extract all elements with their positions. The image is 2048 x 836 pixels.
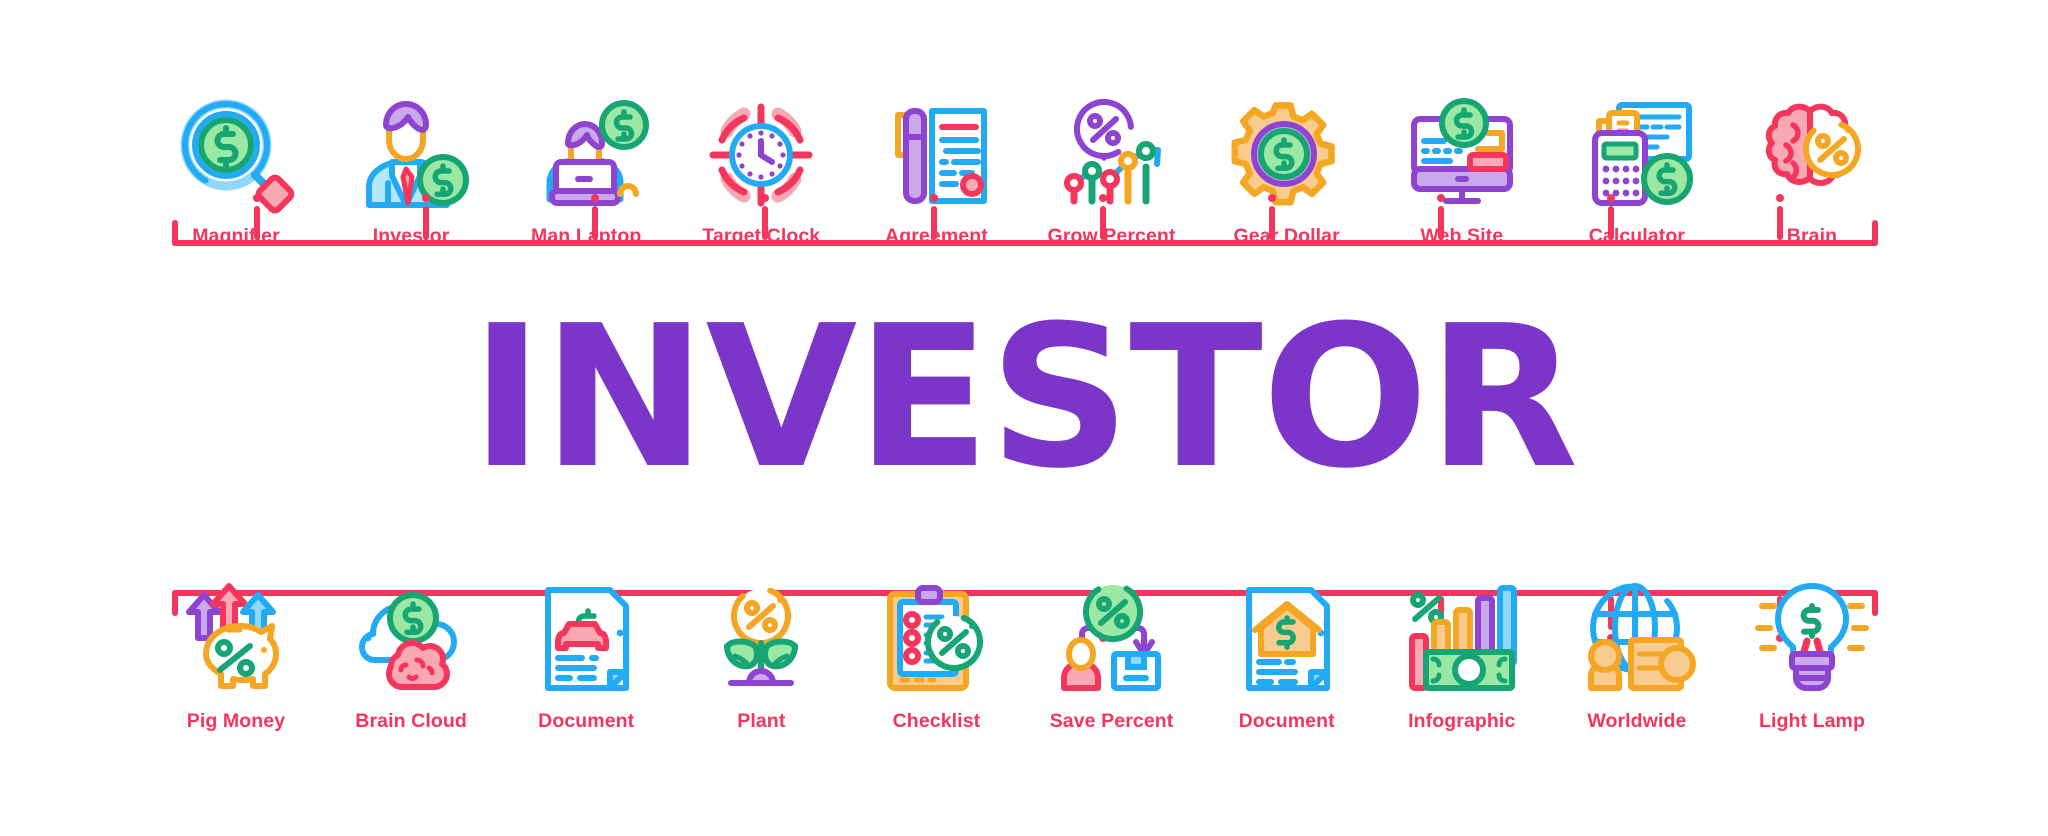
rail-tick [931,206,937,240]
brain-percent-icon [1747,95,1877,215]
icon-cell-save-percent[interactable]: Save Percent [1026,580,1198,732]
save-percent-person-box-icon [1047,580,1177,698]
rail-tick [1608,206,1614,240]
worldwide-globe-coins-icon [1572,580,1702,698]
bottom-icon-row: Pig Money Brain Cloud [0,580,2048,780]
brain-cloud-dollar-icon [346,580,476,698]
rail-dot [1607,194,1615,202]
icon-cell-document-car[interactable]: Document [500,580,672,732]
man-laptop-icon [521,95,651,215]
rail-dot [1437,194,1445,202]
icon-cell-light-lamp[interactable]: Light Lamp [1726,580,1898,732]
rail-endcap-right [1872,220,1878,246]
rail-tick [762,206,768,240]
rail-dot [1099,194,1107,202]
icon-cell-document-house[interactable]: Document [1201,580,1373,732]
rail-tick [254,206,260,240]
document-car-icon [521,580,651,698]
rail-dot [1776,194,1784,202]
icon-label: Worldwide [1587,712,1686,732]
rail-tick [1777,206,1783,240]
rail-bar [172,240,1878,246]
infographic-bars-money-icon [1397,580,1527,698]
web-site-monitor-icon [1397,95,1527,215]
rail-dot [1268,194,1276,202]
icon-label: Brain Cloud [355,712,467,732]
icon-cell-plant[interactable]: Plant [675,580,847,732]
rail-tick [592,206,598,240]
rail-dot [761,194,769,202]
rail-tick [1269,206,1275,240]
top-connector-rail [172,206,1878,246]
piggy-bank-arrows-icon [171,580,301,698]
rail-dot [422,194,430,202]
magnifier-dollar-icon [171,95,301,215]
rail-dot [591,194,599,202]
calculator-icon [1572,95,1702,215]
icon-label: Save Percent [1050,712,1174,732]
icon-label: Infographic [1408,712,1515,732]
rail-tick [423,206,429,240]
gear-dollar-icon [1222,95,1352,215]
grow-percent-chart-icon [1047,95,1177,215]
investor-person-icon [346,95,476,215]
icon-label: Pig Money [187,712,285,732]
icon-cell-brain-cloud[interactable]: Brain Cloud [325,580,497,732]
rail-tick [1438,206,1444,240]
icon-label: Document [1239,712,1335,732]
light-lamp-dollar-icon [1747,580,1877,698]
icon-cell-pig-money[interactable]: Pig Money [150,580,322,732]
rail-endcap-left [172,220,178,246]
plant-percent-icon [696,580,826,698]
icon-label: Light Lamp [1759,712,1865,732]
icon-label: Document [538,712,634,732]
icon-cell-worldwide[interactable]: Worldwide [1551,580,1723,732]
document-house-icon [1222,580,1352,698]
rail-dot [253,194,261,202]
icon-label: Plant [737,712,785,732]
checklist-percent-icon [871,580,1001,698]
rail-dot [930,194,938,202]
infographic-banner: Magnifier Investor [0,0,2048,836]
icon-cell-infographic[interactable]: Infographic [1376,580,1548,732]
icon-cell-checklist[interactable]: Checklist [850,580,1022,732]
page-title: INVESTOR [0,300,2048,496]
rail-tick [1100,206,1106,240]
icon-label: Checklist [893,712,981,732]
